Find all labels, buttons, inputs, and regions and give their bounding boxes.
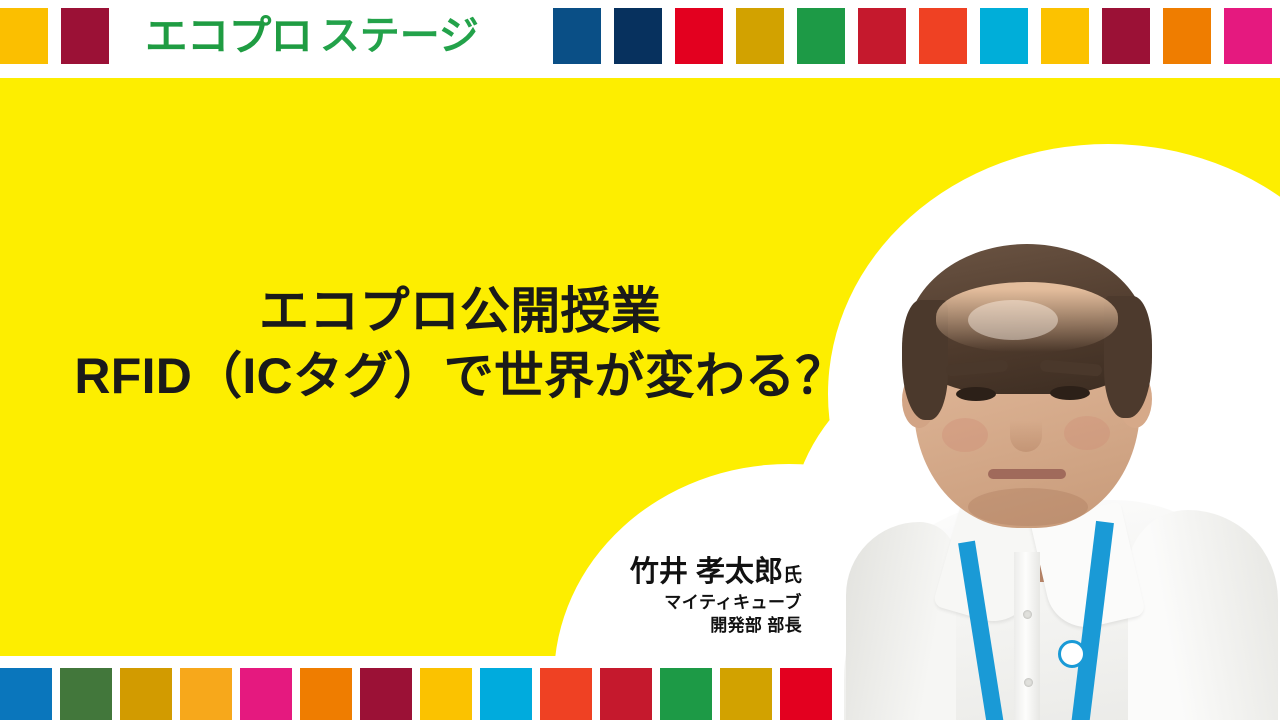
top-bar-swatch-2 bbox=[553, 8, 601, 64]
chin-shadow bbox=[968, 488, 1088, 526]
speaker-name-suffix: 氏 bbox=[783, 565, 802, 586]
bottom-bar-swatch-13 bbox=[780, 668, 832, 720]
cheek-left bbox=[942, 418, 988, 452]
shirt-placket bbox=[1014, 552, 1040, 720]
bottom-bar-swatch-6 bbox=[360, 668, 412, 720]
top-bar-swatch-3 bbox=[614, 8, 662, 64]
top-bar-swatch-10 bbox=[1041, 8, 1089, 64]
top-bar-swatch-4 bbox=[675, 8, 723, 64]
cheek-right bbox=[1064, 416, 1110, 450]
forehead-highlight bbox=[968, 300, 1058, 340]
top-bar-swatch-5 bbox=[736, 8, 784, 64]
bottom-bar-swatch-1 bbox=[60, 668, 112, 720]
nose bbox=[1010, 400, 1042, 452]
presentation-slide: エコプロ公開授業 RFID（ICタグ）で世界が変わる？ 竹井 孝太郎氏 マイティ… bbox=[0, 0, 1280, 720]
bottom-bar-swatch-9 bbox=[540, 668, 592, 720]
bottom-bar-swatch-4 bbox=[240, 668, 292, 720]
bottom-bar-swatch-7 bbox=[420, 668, 472, 720]
bottom-bar-swatch-11 bbox=[660, 668, 712, 720]
title-line-1: エコプロ公開授業 bbox=[60, 282, 860, 341]
mouth bbox=[988, 469, 1066, 479]
event-logo: エコプロ ステージ bbox=[145, 6, 479, 66]
logo-main-text: エコプロ bbox=[145, 16, 312, 57]
logo-sub-text: ステージ bbox=[320, 16, 479, 56]
speaker-name: 竹井 孝太郎 bbox=[630, 556, 783, 588]
top-bar-swatch-0 bbox=[0, 8, 48, 64]
speaker-name-row: 竹井 孝太郎氏 bbox=[540, 556, 802, 588]
top-bar-swatch-1 bbox=[61, 8, 109, 64]
top-bar-swatch-8 bbox=[919, 8, 967, 64]
bottom-bar-swatch-0 bbox=[0, 668, 52, 720]
bottom-bar-swatch-5 bbox=[300, 668, 352, 720]
speaker-role: 開発部 部長 bbox=[540, 615, 802, 638]
top-bar-swatch-7 bbox=[858, 8, 906, 64]
eye-right bbox=[1050, 386, 1090, 400]
shirt-button-upper bbox=[1023, 610, 1032, 619]
bottom-bar-swatch-10 bbox=[600, 668, 652, 720]
bottom-bar-swatch-8 bbox=[480, 668, 532, 720]
speaker-nameplate: 竹井 孝太郎氏 マイティキューブ 開発部 部長 bbox=[540, 556, 802, 638]
eye-left bbox=[956, 387, 996, 401]
top-bar-swatch-11 bbox=[1102, 8, 1150, 64]
top-bar-swatch-12 bbox=[1163, 8, 1211, 64]
top-bar-swatch-6 bbox=[797, 8, 845, 64]
speaker-photo bbox=[828, 222, 1280, 720]
slide-title: エコプロ公開授業 RFID（ICタグ）で世界が変わる？ bbox=[60, 282, 860, 405]
shirt-button-lower bbox=[1024, 678, 1033, 687]
speaker-company: マイティキューブ bbox=[540, 592, 802, 615]
bottom-bar-swatch-3 bbox=[180, 668, 232, 720]
top-color-bar: エコプロ ステージ bbox=[0, 0, 1280, 78]
shirt-shadow-left bbox=[846, 522, 956, 720]
top-bar-swatch-9 bbox=[980, 8, 1028, 64]
top-bar-swatch-13 bbox=[1224, 8, 1272, 64]
shirt-shadow-right bbox=[1128, 510, 1278, 720]
bottom-bar-swatch-2 bbox=[120, 668, 172, 720]
bottom-bar-swatch-12 bbox=[720, 668, 772, 720]
title-line-2: RFID（ICタグ）で世界が変わる？ bbox=[60, 347, 860, 406]
lanyard-logo-icon bbox=[1058, 640, 1086, 668]
